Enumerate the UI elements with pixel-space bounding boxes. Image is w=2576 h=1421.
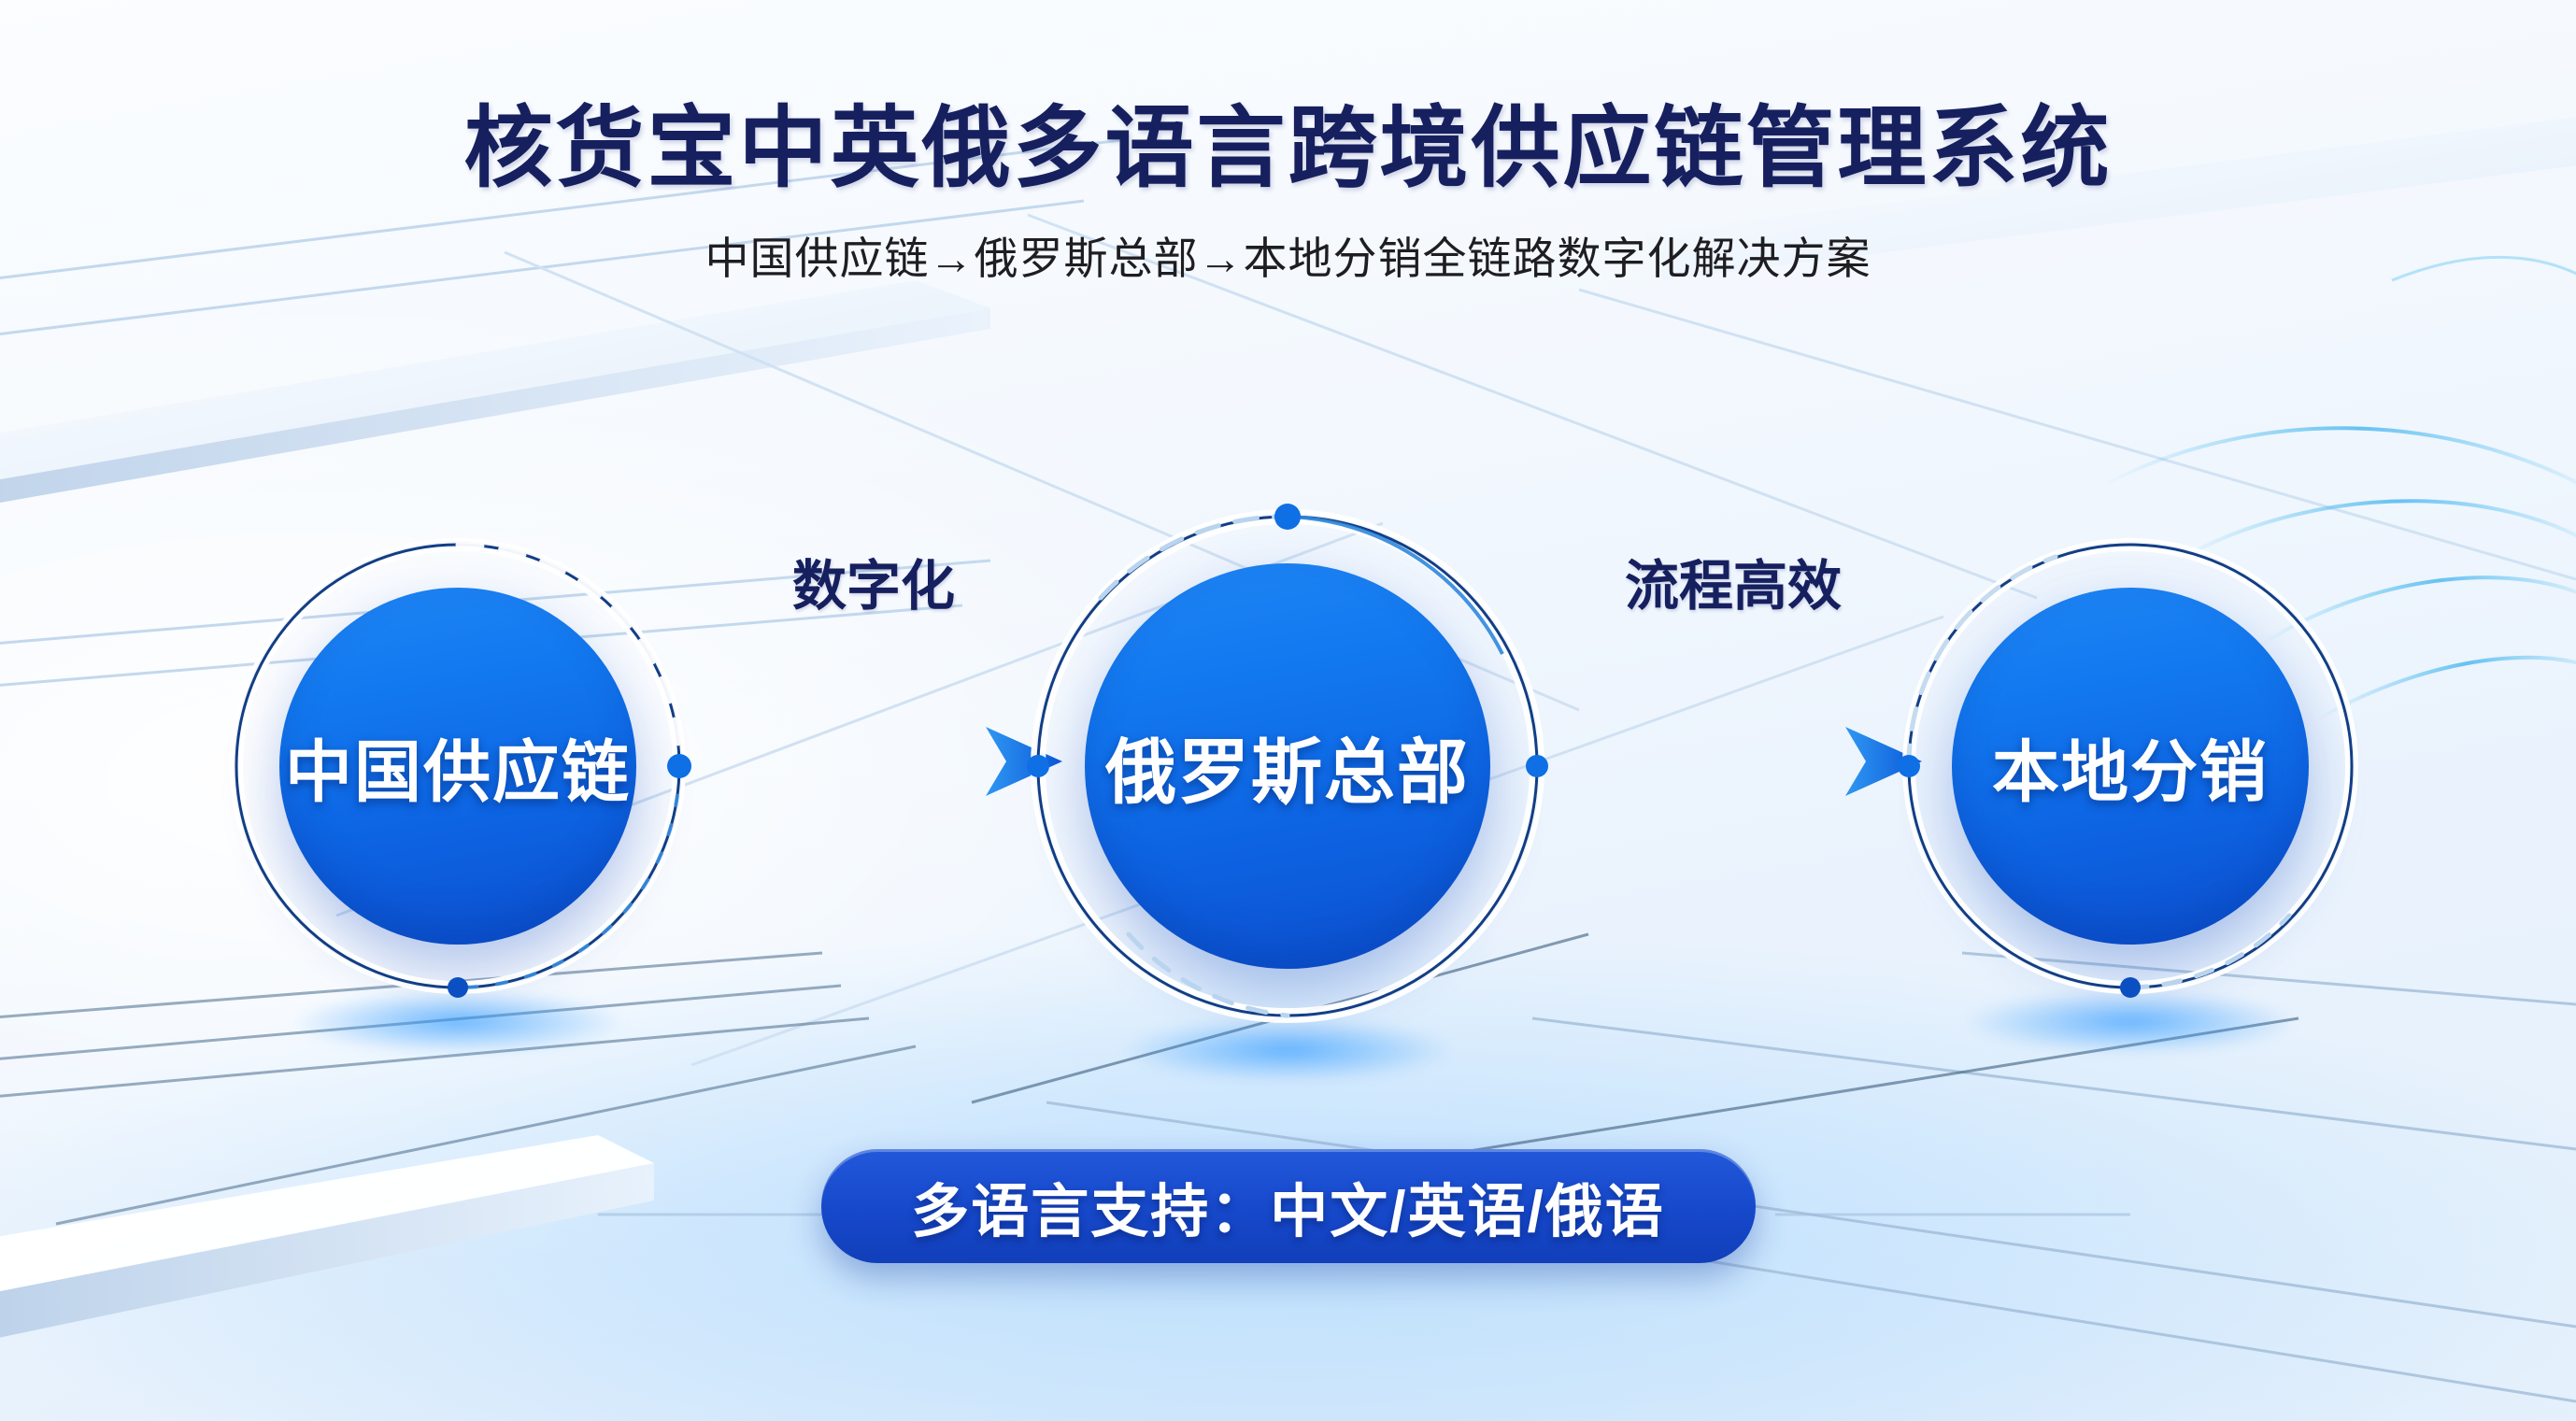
connector-caption: 流程高效 <box>1625 542 1842 620</box>
arrow-right-icon <box>677 719 1070 803</box>
flow-node-label: 中国供应链 <box>285 718 631 816</box>
connector-caption: 数字化 <box>792 542 955 620</box>
flow-node-label: 俄罗斯总部 <box>1105 715 1470 817</box>
flow-node-russia-headquarters[interactable]: 俄罗斯总部 <box>1017 495 1558 1037</box>
flow-connector-1: 数字化 <box>677 663 1070 869</box>
badge-label: 多语言支持：中文/英语/俄语 <box>911 1164 1664 1248</box>
flow-node-china-supply-chain[interactable]: 中国供应链 <box>215 523 701 1009</box>
multilanguage-support-badge[interactable]: 多语言支持：中文/英语/俄语 <box>821 1149 1756 1263</box>
flow-node-label: 本地分销 <box>1992 718 2269 816</box>
flow-node-local-distribution[interactable]: 本地分销 <box>1887 523 2373 1009</box>
flow-connector-2: 流程高效 <box>1537 663 1929 869</box>
arrow-right-icon <box>1537 719 1929 803</box>
